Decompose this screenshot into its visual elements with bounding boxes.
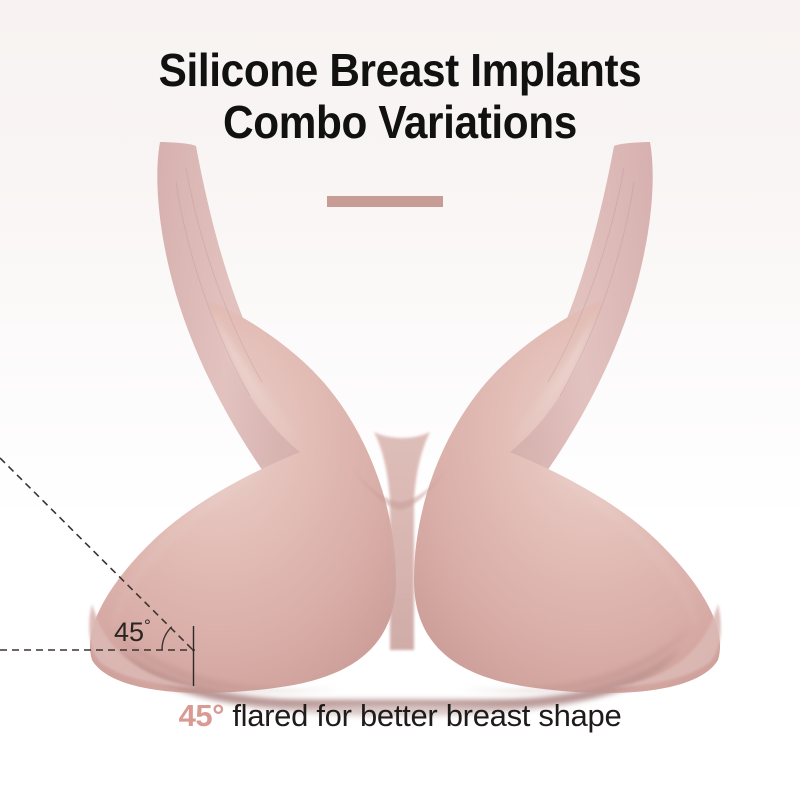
product-image-bra <box>0 0 800 800</box>
angle-value-label: 45° <box>114 617 151 648</box>
bra-cup-right <box>414 300 720 693</box>
product-infographic: Silicone Breast Implants Combo Variation… <box>0 0 800 800</box>
angle-number: 45 <box>114 617 144 647</box>
caption-accent: 45° <box>179 698 224 733</box>
degree-symbol: ° <box>144 616 151 635</box>
section-divider <box>327 196 443 207</box>
caption: 45° flared for better breast shape <box>0 698 800 734</box>
caption-text: flared for better breast shape <box>224 698 621 733</box>
